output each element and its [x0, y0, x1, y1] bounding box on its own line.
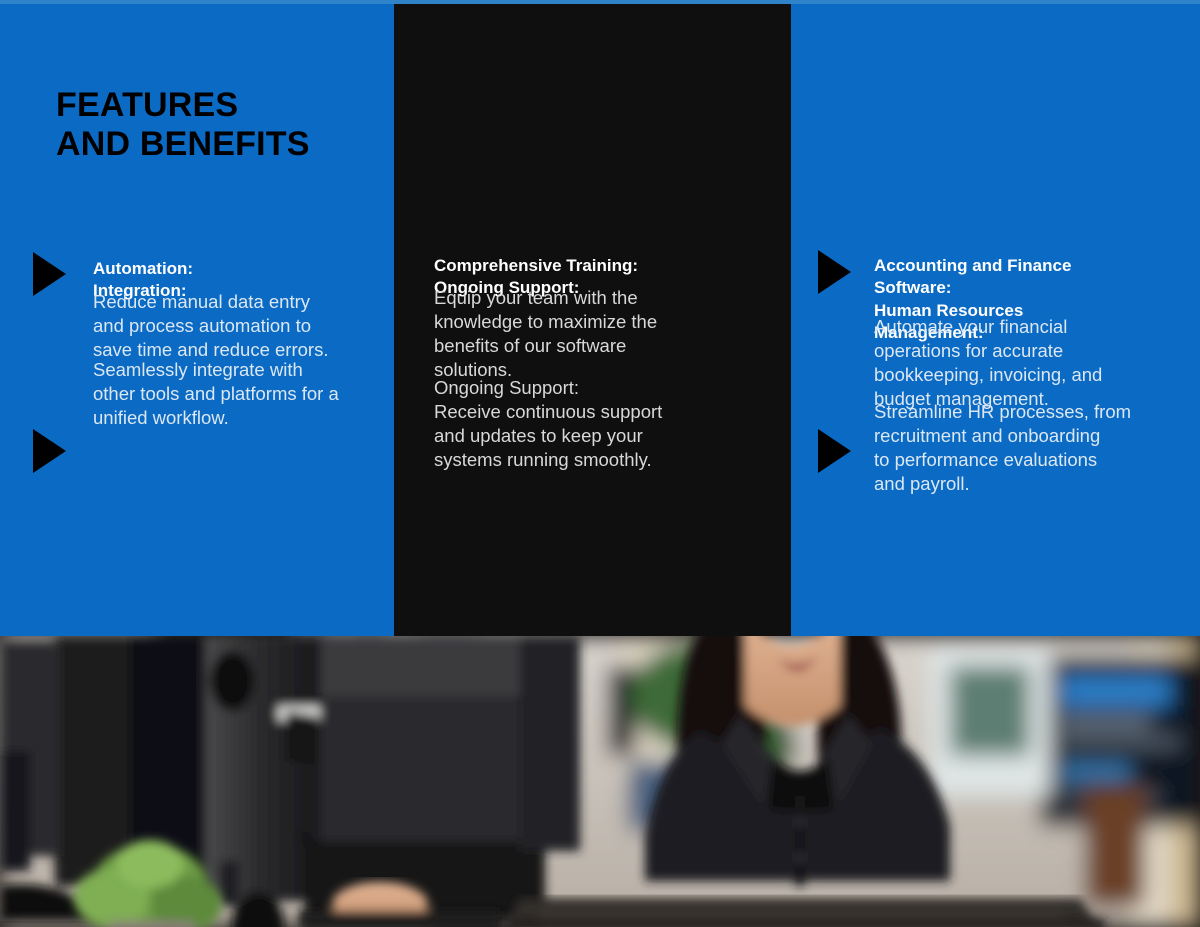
item-body-automation: Reduce manual data entry and process aut…: [93, 290, 385, 362]
triangle-bullet-icon: [33, 252, 66, 296]
item-body-ongoing-support: Ongoing Support: Receive continuous supp…: [434, 376, 714, 472]
item-title-accounting-finance-software: Accounting and Finance Software:: [874, 255, 1154, 299]
page-title-features: FEATURES AND BENEFITS: [56, 86, 310, 164]
item-body-accounting-finance-software: Automate your financial operations for a…: [874, 315, 1164, 411]
item-body-comprehensive-training: Equip your team with the knowledge to ma…: [434, 286, 704, 382]
item-body-human-resources-management: Streamline HR processes, from recruitmen…: [874, 400, 1164, 496]
office-workspace-photo: [0, 636, 1200, 927]
top-accent-strip: [0, 0, 1200, 4]
triangle-bullet-icon: [818, 429, 851, 473]
triangle-bullet-icon: [33, 429, 66, 473]
item-title-comprehensive-training: Comprehensive Training:: [434, 255, 764, 277]
item-body-integration: Seamlessly integrate with other tools an…: [93, 358, 385, 430]
brochure-page: FEATURES AND BENEFITS Automation: Integr…: [0, 0, 1200, 927]
triangle-bullet-icon: [818, 250, 851, 294]
item-title-automation: Automation:: [93, 258, 383, 280]
